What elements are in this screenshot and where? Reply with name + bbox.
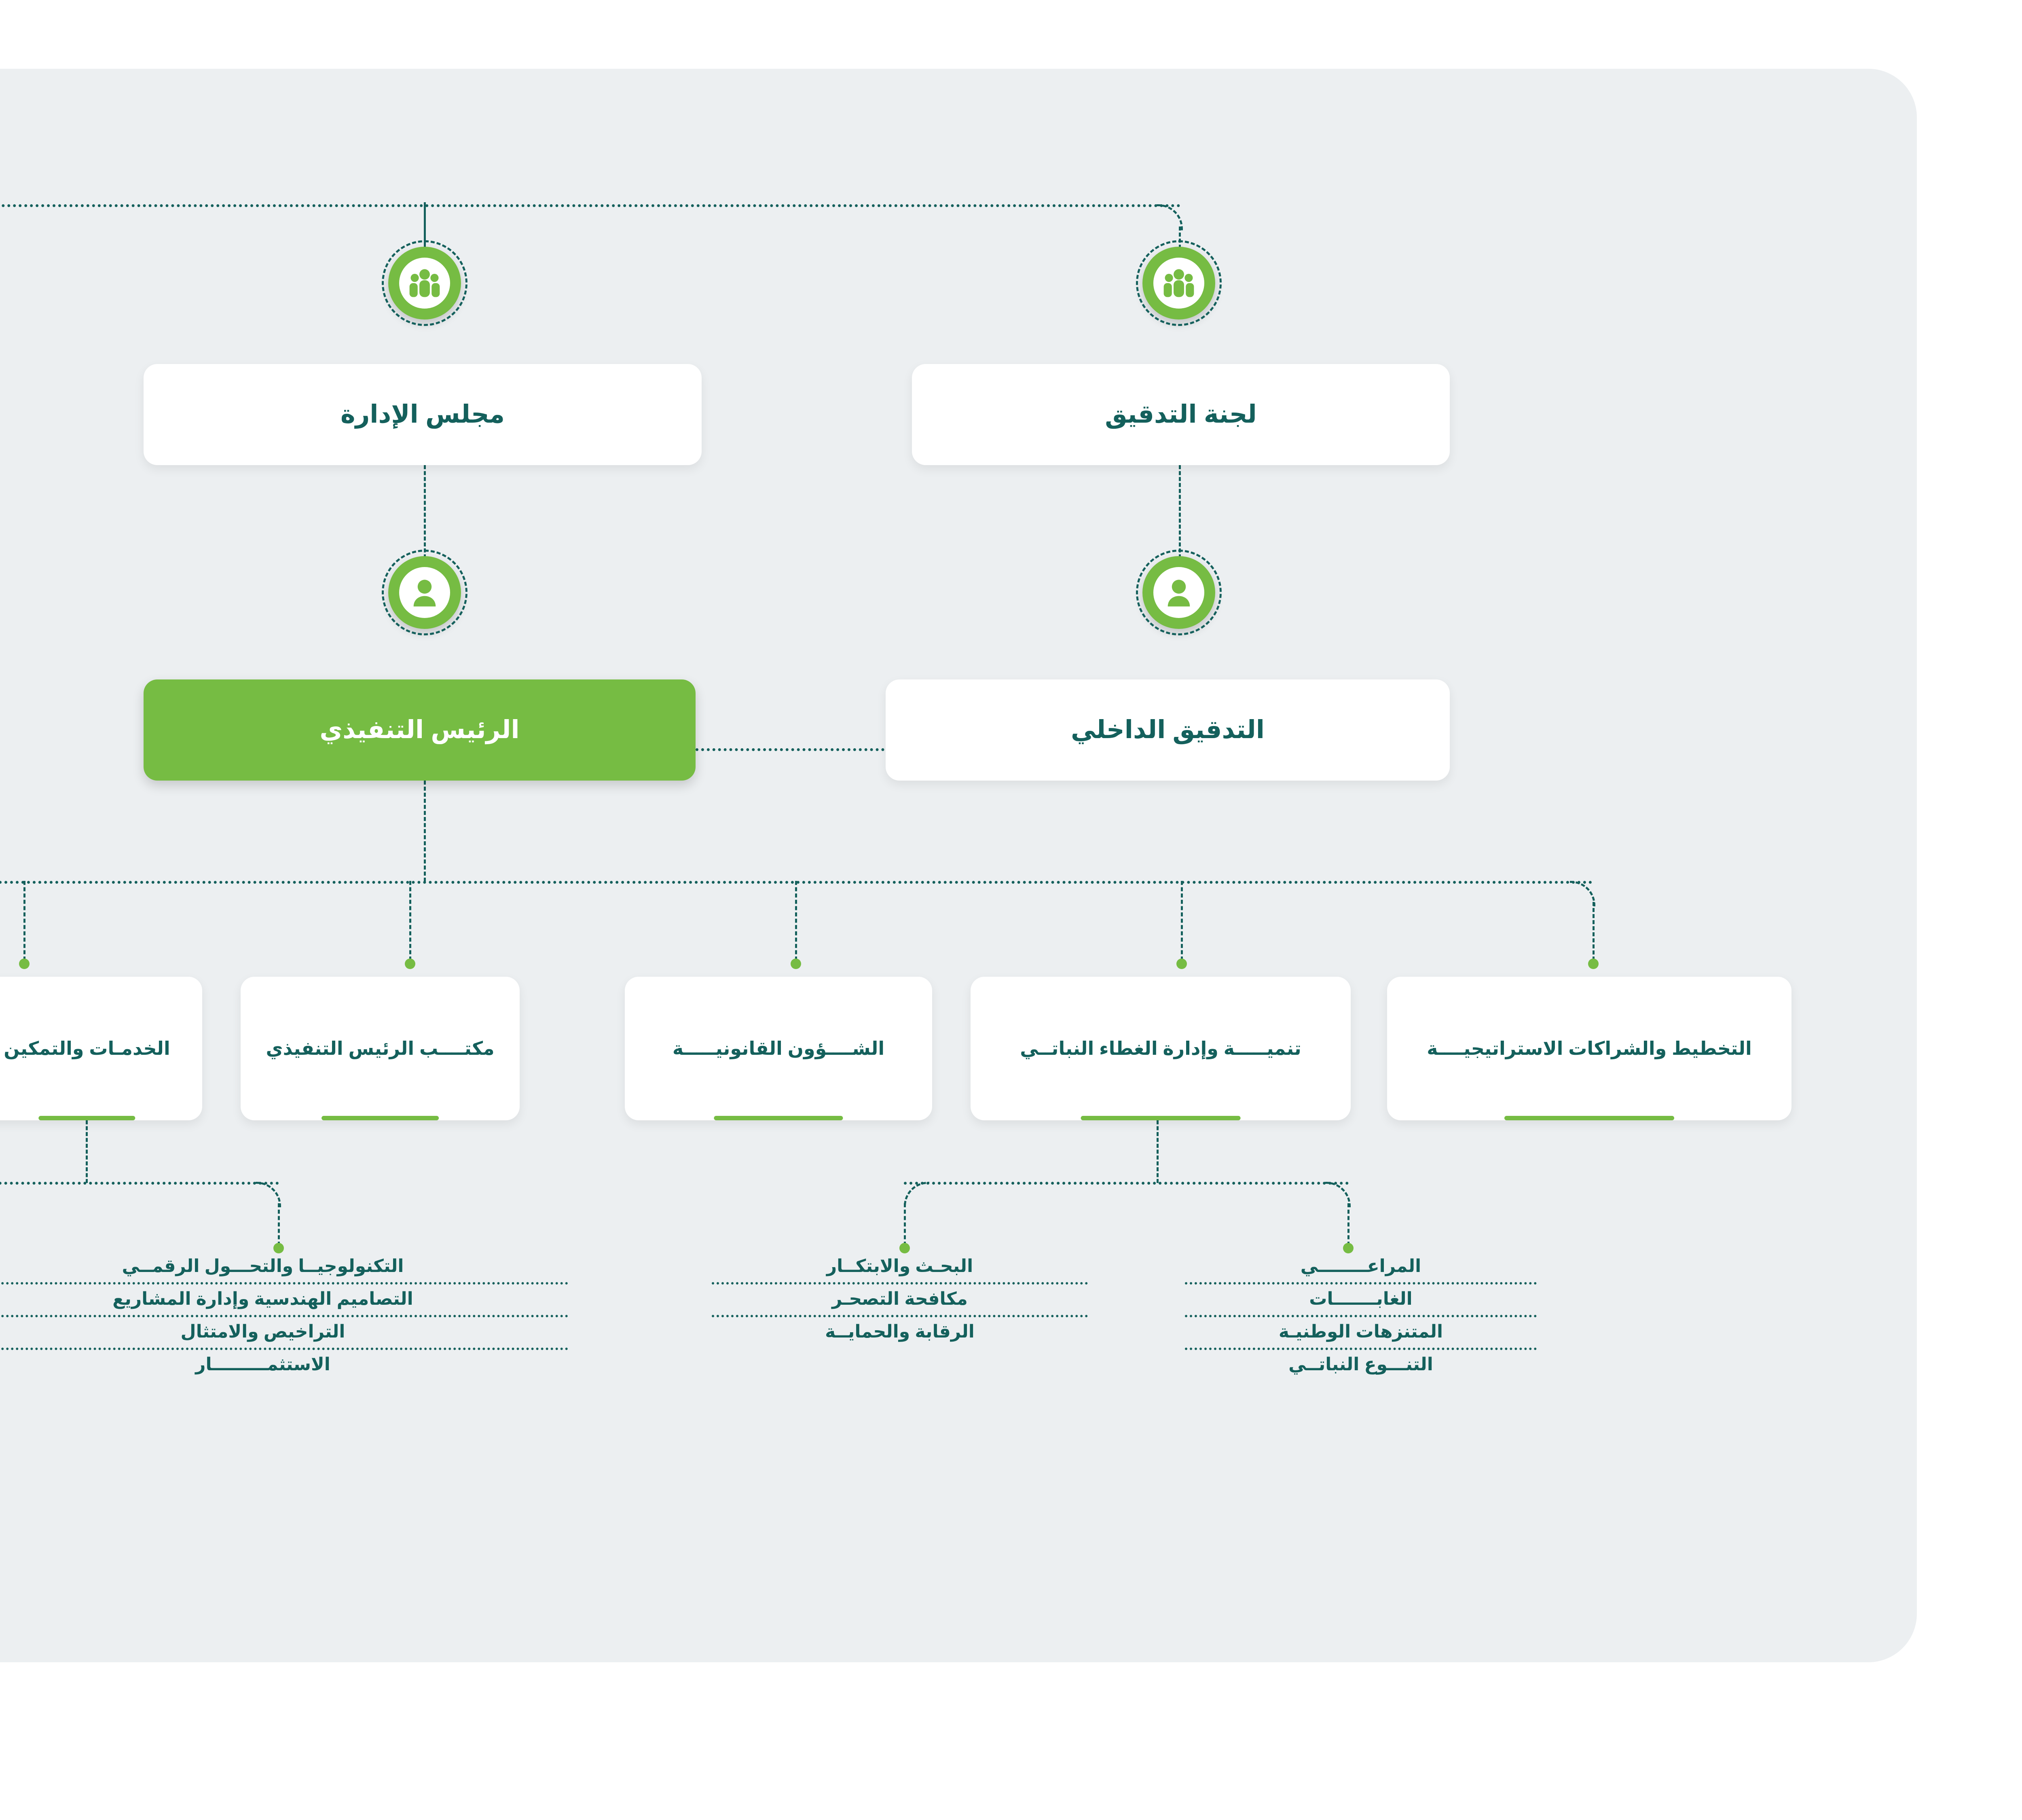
- avatar-inner: [399, 258, 450, 309]
- connector-dot-dept-6: [1176, 959, 1187, 969]
- department-ceo-office[interactable]: مكتــــب الرئيس التنفيذي: [241, 977, 520, 1120]
- department-strategic-planning-partnerships[interactable]: التخطيط والشراكات الاستراتيجيــــة: [1387, 977, 1791, 1120]
- connector-drop-dept-6: [1181, 881, 1183, 961]
- node-internal-audit[interactable]: التدقيق الداخلي: [886, 679, 1450, 781]
- connector-fork-b-bus: [904, 1182, 1349, 1185]
- connector-top-bus: [0, 204, 1181, 207]
- connector-drop-dept-5: [795, 881, 797, 961]
- sub-item-plant-diversity[interactable]: التنـــوع النباتــي: [1185, 1350, 1537, 1380]
- connector-drop-dept-7: [1593, 902, 1595, 961]
- sub-item-national-parks[interactable]: المتنزهات الوطنيـة: [1185, 1317, 1537, 1350]
- sub-item-desertification-control[interactable]: مكافحة التصحـر: [712, 1285, 1088, 1317]
- department-services-and-enablement[interactable]: الخدمـات والتمكين: [0, 977, 202, 1120]
- avatar-inner: [399, 567, 450, 618]
- single-person-icon: [406, 574, 443, 611]
- connector-fork-b-stem: [1157, 1120, 1159, 1183]
- connector-dot-dept-4: [405, 959, 415, 969]
- sub-item-forests[interactable]: الغابـــــــات: [1185, 1285, 1537, 1317]
- sub-item-investment[interactable]: الاستثمـــــــــار: [0, 1350, 568, 1380]
- sub-item-engineering-design-project-mgmt[interactable]: التصاميم الهندسية وإدارة المشاريع: [0, 1285, 568, 1317]
- connector-dot-dept-5: [791, 959, 801, 969]
- avatar-inner: [1153, 258, 1204, 309]
- department-vegetation-cover-development[interactable]: تنميـــــة وإدارة الغطاء النباتــي: [971, 977, 1351, 1120]
- connector-fork-b-drop-left: [904, 1203, 906, 1246]
- sub-group-technology-projects-group: التكنولوجيــا والتحـــول الرقمــي التصام…: [0, 1252, 568, 1380]
- connector-ceo-stem-down: [424, 781, 426, 882]
- connector-drop-dept-4: [409, 881, 411, 961]
- sub-item-monitoring-protection[interactable]: الرقابة والحمايــة: [712, 1317, 1088, 1348]
- connector-fork-b-drop-right: [1347, 1203, 1349, 1246]
- sub-item-technology-digital-transformation[interactable]: التكنولوجيــا والتحـــول الرقمــي: [0, 1252, 568, 1285]
- connector-fork-a-bus: [0, 1182, 279, 1185]
- node-board-of-directors[interactable]: مجلس الإدارة: [144, 364, 702, 465]
- connector-fork-a-drop-right: [278, 1203, 280, 1246]
- internal-audit-avatar: [1142, 556, 1215, 629]
- sub-item-rangelands[interactable]: المراعــــــــي: [1185, 1252, 1537, 1285]
- node-audit-committee[interactable]: لجنة التدقيق: [912, 364, 1450, 465]
- board-of-directors-avatar: [388, 247, 461, 320]
- single-person-icon: [1160, 574, 1197, 611]
- sub-group-research-protection-group: البحـث والابتكــار مكافحة التصحـر الرقاب…: [712, 1252, 1088, 1348]
- sub-item-research-innovation[interactable]: البحـث والابتكــار: [712, 1252, 1088, 1285]
- node-ceo[interactable]: الرئيس التنفيذي: [144, 679, 696, 781]
- avatar-inner: [1153, 567, 1204, 618]
- audit-committee-avatar: [1142, 247, 1215, 320]
- department-legal-affairs[interactable]: الشــــؤون القانونيـــــة: [625, 977, 932, 1120]
- chart-panel: [0, 69, 1917, 1662]
- sub-group-natural-resources-group: المراعــــــــي الغابـــــــات المتنزهات…: [1185, 1252, 1537, 1380]
- sub-item-licensing-compliance[interactable]: التراخيص والامتثال: [0, 1317, 568, 1350]
- ceo-avatar: [388, 556, 461, 629]
- connector-dot-dept-3: [19, 959, 30, 969]
- group-people-icon: [406, 265, 443, 302]
- connector-drop-dept-3: [23, 881, 25, 961]
- connector-dot-dept-7: [1588, 959, 1599, 969]
- group-people-icon: [1160, 265, 1197, 302]
- connector-fork-a-stem: [86, 1120, 88, 1183]
